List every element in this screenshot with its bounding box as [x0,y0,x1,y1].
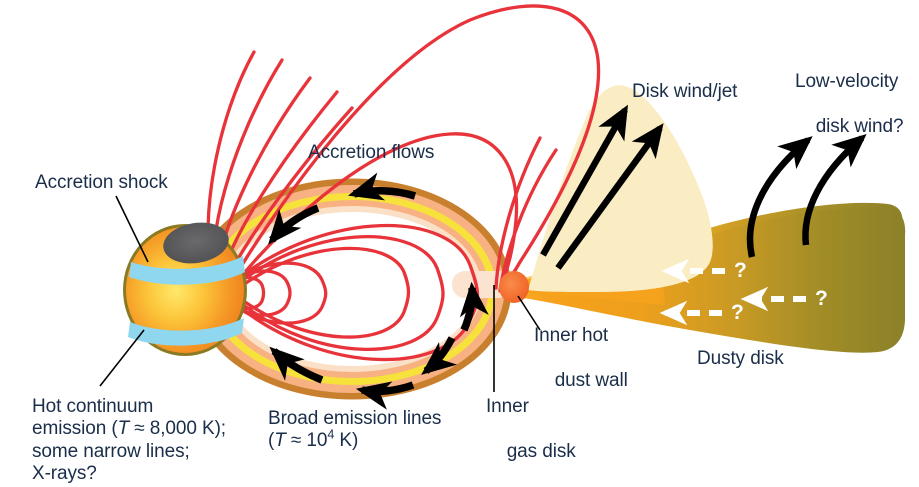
temperature-symbol: T [118,418,130,439]
label-disk-wind-jet: Disk wind/jet [632,81,737,103]
temperature-symbol: T [274,430,286,451]
broad-emission-line1: Broad emission lines [268,408,441,429]
star [123,218,247,356]
dust-wall-icon [499,271,529,303]
label-inner-gas-line2: gas disk [507,441,576,462]
label-low-velocity-line2: disk wind? [816,116,904,137]
label-accretion-shock: Accretion shock [35,172,168,194]
leader-accretion-shock [116,196,148,262]
label-hot-continuum: Hot continuumemission (T ≈ 8,000 K);some… [32,396,226,486]
leader-hot-continuum [100,330,144,386]
question-mark-3: ? [731,301,744,325]
inner-hot-dust-wall [499,271,529,303]
label-inner-hot-line2: dust wall [555,370,628,391]
label-broad-emission-lines: Broad emission lines(T ≈ 104 K) [268,408,441,453]
label-inner-hot-line1: Inner hot [534,325,608,346]
question-mark-2: ? [815,287,828,311]
diagram-figure: Accretion shock Accretion flows Disk win… [0,0,919,487]
hot-continuum-line2: emission (T ≈ 8,000 K); [32,418,226,439]
hot-continuum-line4: X-rays? [32,463,97,484]
label-dusty-disk: Dusty disk [697,348,784,370]
hot-continuum-line1: Hot continuum [32,396,153,417]
label-low-velocity-disk-wind: Low-velocity disk wind? [795,71,903,138]
question-mark-1: ? [734,259,747,283]
magnetic-field-lines [208,6,598,360]
broad-emission-line2: (T ≈ 104 K) [268,430,358,451]
label-inner-gas-disk: Inner gas disk [486,396,576,463]
label-accretion-flows: Accretion flows [308,142,434,164]
hot-continuum-line3: some narrow lines; [32,441,190,462]
label-inner-gas-line1: Inner [486,396,529,417]
label-inner-hot-dust-wall: Inner hot dust wall [534,325,628,392]
label-low-velocity-line1: Low-velocity [795,71,898,92]
